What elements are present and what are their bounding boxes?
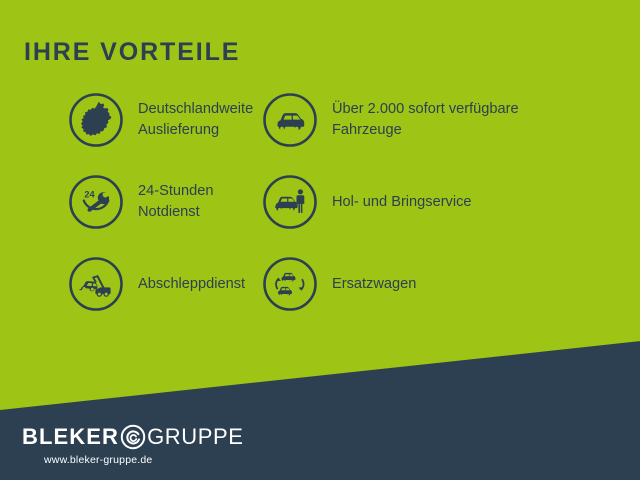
logo-primary-text: BLEKER: [22, 426, 119, 448]
benefit-item-abschleppdienst[interactable]: Abschleppdienst: [0, 256, 258, 312]
logo-secondary-text: GRUPPE: [147, 426, 244, 448]
benefit-row: Deutschlandweite Auslieferung Über 2.000…: [0, 92, 640, 174]
benefit-item-hol-und-bringservice[interactable]: Hol- und Bringservice: [258, 174, 640, 230]
car-with-person-icon: [262, 174, 318, 230]
benefit-item-verfuegbare-fahrzeuge[interactable]: Über 2.000 sofort verfügbare Fahrzeuge: [258, 92, 640, 148]
benefit-item-ersatzwagen[interactable]: Ersatzwagen: [258, 256, 640, 312]
benefit-item-24-stunden-notdienst[interactable]: 24 24-Stunden Notdienst: [0, 174, 258, 230]
benefit-label: Über 2.000 sofort verfügbare Fahrzeuge: [332, 99, 582, 140]
badge-24-text: 24: [84, 189, 95, 199]
benefits-grid: Deutschlandweite Auslieferung Über 2.000…: [0, 92, 640, 338]
benefit-label: Ersatzwagen: [332, 274, 416, 295]
benefit-label: Deutschlandweite Auslieferung: [138, 99, 258, 140]
benefit-item-deutschlandweite-auslieferung[interactable]: Deutschlandweite Auslieferung: [0, 92, 258, 148]
replacement-car-icon: [262, 256, 318, 312]
car-icon: [262, 92, 318, 148]
benefit-row: Abschleppdienst: [0, 256, 640, 338]
benefit-row: 24 24-Stunden Notdienst Hol- und Bringse…: [0, 174, 640, 256]
24-hour-wrench-icon: 24: [68, 174, 124, 230]
benefit-label: Hol- und Bringservice: [332, 192, 472, 213]
benefit-label: Abschleppdienst: [138, 274, 245, 295]
tow-truck-icon: [68, 256, 124, 312]
logo-url-text[interactable]: www.bleker-gruppe.de: [44, 454, 152, 466]
page-title: IHRE VORTEILE: [24, 40, 240, 65]
benefit-label: 24-Stunden Notdienst: [138, 181, 258, 222]
slide-canvas: IHRE VORTEILE Deutschlandweite Ausliefer…: [0, 0, 640, 480]
footer-logo[interactable]: BLEKER GRUPPE www.bleker-gruppe.de: [22, 424, 244, 466]
logo-wordmark: BLEKER GRUPPE: [22, 424, 244, 450]
germany-map-icon: [68, 92, 124, 148]
spiral-circle-logo-icon: [120, 424, 146, 450]
